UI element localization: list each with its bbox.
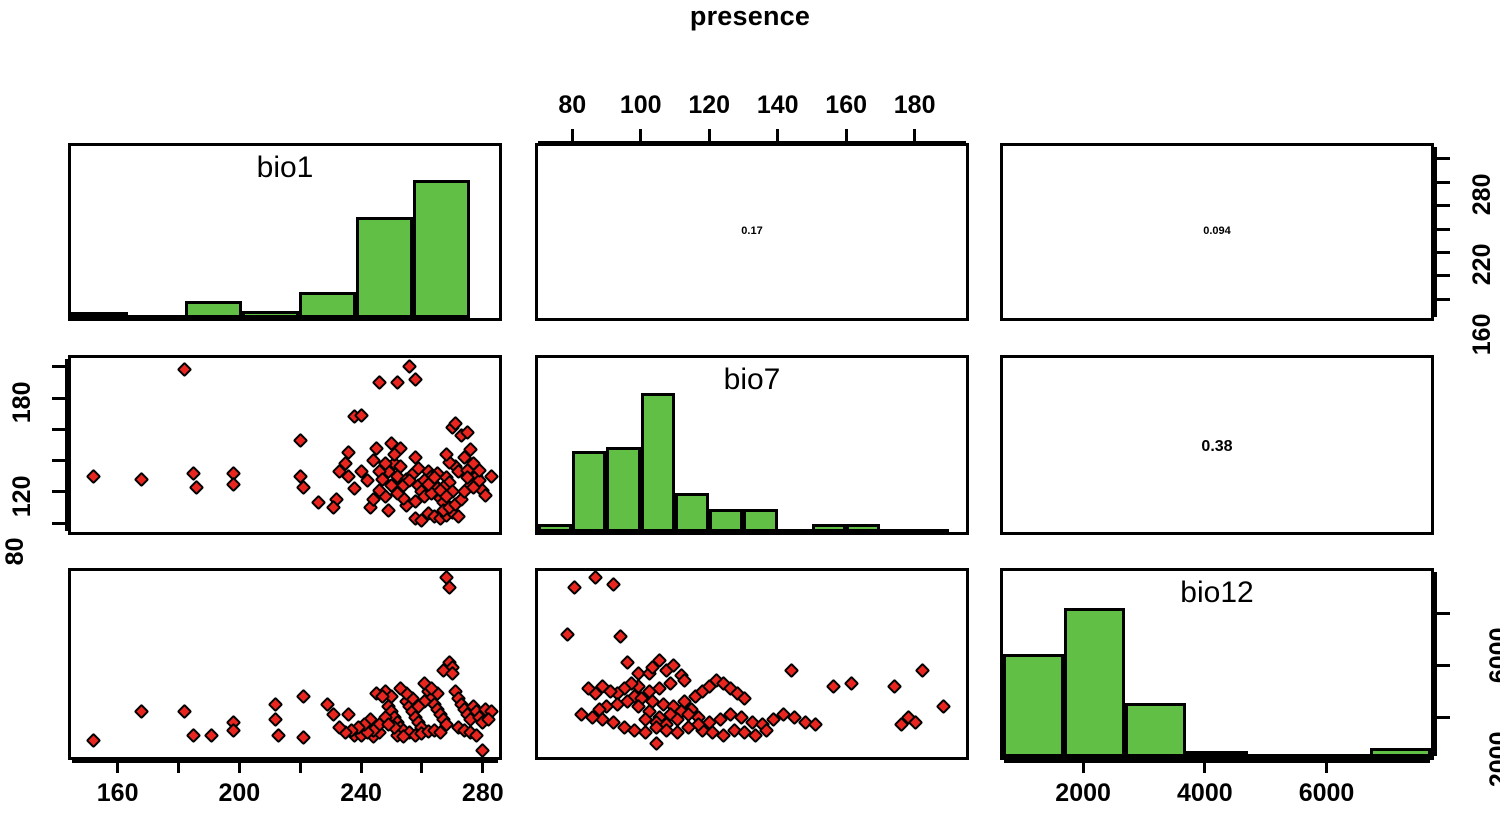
axis-tick <box>52 397 65 400</box>
axis-tick <box>420 760 423 773</box>
data-point <box>225 722 242 739</box>
axis-tick-label: 220 <box>1468 244 1497 286</box>
data-point <box>188 479 205 496</box>
data-point <box>573 706 590 723</box>
data-point <box>176 703 193 720</box>
correlation-value-r2c3: 0.38 <box>1000 438 1434 456</box>
axis-tick-label: 120 <box>8 475 37 517</box>
axis-tick <box>52 459 65 462</box>
axis-tick <box>177 760 180 773</box>
data-point <box>325 499 342 516</box>
histogram-bar <box>606 447 640 532</box>
data-point <box>432 724 449 741</box>
axis-tick <box>52 428 65 431</box>
axis-tick <box>845 129 848 143</box>
histogram-bar <box>1064 608 1125 757</box>
histogram-bar <box>538 524 572 532</box>
axis-tick <box>708 129 711 143</box>
data-point <box>605 576 622 593</box>
data-point <box>176 361 193 378</box>
data-point <box>566 579 583 596</box>
data-point <box>612 628 629 645</box>
data-point <box>559 626 576 643</box>
data-point <box>483 468 500 485</box>
axis-tick-label: 6000 <box>1299 779 1355 808</box>
axis-tick <box>1203 760 1206 773</box>
data-point <box>295 729 312 746</box>
data-point <box>331 719 348 736</box>
chart-title: presence <box>0 1 1500 32</box>
axis-tick <box>52 522 65 525</box>
correlation-value-r1c3: 0.094 <box>1000 225 1434 237</box>
data-point <box>353 407 370 424</box>
data-point <box>267 696 284 713</box>
data-point <box>389 374 406 391</box>
axis-tick <box>52 365 65 368</box>
axis-tick <box>1437 181 1450 184</box>
axis-tick <box>913 129 916 143</box>
data-point <box>690 716 707 733</box>
axis-tick <box>116 760 119 773</box>
data-point <box>374 688 391 705</box>
data-point <box>648 735 665 752</box>
data-point <box>893 716 910 733</box>
axis-line-bottom-left <box>72 760 498 763</box>
data-point <box>401 358 418 375</box>
data-point <box>270 727 287 744</box>
panel-label-bio12: bio12 <box>1000 576 1434 610</box>
data-point <box>474 742 491 759</box>
axis-line-right-top <box>1434 147 1437 317</box>
axis-tick <box>360 760 363 773</box>
histogram-bar <box>1125 703 1186 757</box>
axis-tick-label: 240 <box>340 779 382 808</box>
data-point <box>843 675 860 692</box>
histogram-bar <box>1186 751 1247 757</box>
data-point <box>825 678 842 695</box>
axis-tick <box>299 760 302 773</box>
axis-tick <box>1437 204 1450 207</box>
histogram-bar <box>641 393 675 532</box>
axis-tick <box>1082 760 1085 773</box>
axis-line-bottom-right <box>1004 760 1430 763</box>
data-point <box>292 432 309 449</box>
data-point <box>468 727 485 744</box>
data-point <box>783 662 800 679</box>
data-point <box>935 698 952 715</box>
data-point <box>85 468 102 485</box>
histogram-bar <box>1370 748 1431 757</box>
axis-tick <box>481 760 484 773</box>
axis-line-top <box>538 141 966 144</box>
axis-tick <box>1437 716 1450 719</box>
histogram-bar <box>778 529 812 535</box>
data-point <box>587 569 604 586</box>
data-point <box>736 690 753 707</box>
axis-tick-label: 160 <box>825 91 867 120</box>
data-point <box>444 665 461 682</box>
histogram-bar <box>743 509 777 532</box>
data-point <box>133 471 150 488</box>
histogram-bar <box>128 315 185 321</box>
data-point <box>441 579 458 596</box>
histogram-bar <box>356 217 413 318</box>
histogram-bar <box>242 311 299 318</box>
data-point <box>85 732 102 749</box>
data-point <box>133 703 150 720</box>
axis-tick <box>571 129 574 143</box>
histogram-bar <box>675 493 709 532</box>
axis-tick-label: 160 <box>1468 314 1497 356</box>
axis-tick-label: 4000 <box>1177 779 1233 808</box>
data-point <box>413 512 430 529</box>
data-point <box>456 483 473 500</box>
data-point <box>886 678 903 695</box>
axis-tick-label: 180 <box>8 381 37 423</box>
correlation-value-r1c2: 0.17 <box>535 225 969 237</box>
data-point <box>225 476 242 493</box>
histogram-bar <box>709 509 743 532</box>
histogram-bar <box>915 529 949 535</box>
data-point <box>580 680 597 697</box>
data-point <box>331 463 348 480</box>
data-point <box>353 463 370 480</box>
histogram-bar <box>299 292 356 318</box>
data-point <box>267 711 284 728</box>
panel-label-bio7: bio7 <box>535 363 969 397</box>
axis-tick-label: 100 <box>620 91 662 120</box>
axis-tick <box>1437 612 1450 615</box>
axis-tick-label: 6000 <box>1485 628 1500 684</box>
data-point <box>346 480 363 497</box>
data-point <box>389 485 406 502</box>
histogram-bar <box>880 529 914 535</box>
axis-tick-label: 180 <box>894 91 936 120</box>
axis-tick-label: 2000 <box>1485 732 1500 788</box>
axis-tick-label: 200 <box>218 779 260 808</box>
data-point <box>914 662 931 679</box>
axis-tick <box>1437 157 1450 160</box>
data-point <box>203 727 220 744</box>
axis-tick-label: 80 <box>558 91 586 120</box>
data-point <box>807 716 824 733</box>
histogram-bar <box>71 312 128 318</box>
data-point <box>371 374 388 391</box>
histogram-bar <box>185 301 242 318</box>
data-point <box>185 727 202 744</box>
axis-tick-label: 280 <box>462 779 504 808</box>
axis-tick <box>776 129 779 143</box>
data-point <box>368 440 385 457</box>
axis-tick <box>238 760 241 773</box>
axis-tick-label: 80 <box>1 538 30 566</box>
data-point <box>295 688 312 705</box>
axis-tick <box>1437 274 1450 277</box>
axis-tick-label: 280 <box>1468 173 1497 215</box>
axis-tick-label: 2000 <box>1055 779 1111 808</box>
histogram-bar <box>846 524 880 532</box>
data-point <box>459 424 476 441</box>
axis-tick <box>1437 251 1450 254</box>
histogram-bar <box>1003 654 1064 757</box>
axis-tick <box>1437 298 1450 301</box>
axis-tick <box>52 490 65 493</box>
histogram-bar <box>812 524 846 532</box>
axis-tick <box>1325 760 1328 773</box>
axis-line-left <box>65 359 68 531</box>
histogram-bar <box>572 451 606 532</box>
histogram-bar <box>413 180 470 318</box>
axis-tick <box>639 129 642 143</box>
data-point <box>438 446 455 463</box>
axis-tick-label: 160 <box>97 779 139 808</box>
axis-tick-label: 140 <box>757 91 799 120</box>
data-point <box>480 711 497 728</box>
axis-tick <box>1437 664 1450 667</box>
data-point <box>758 722 775 739</box>
axis-tick <box>1437 228 1450 231</box>
data-point <box>377 455 394 472</box>
axis-tick-label: 120 <box>688 91 730 120</box>
data-point <box>295 479 312 496</box>
data-point <box>380 716 397 733</box>
scatterplot-matrix: presence bio10.170.094bio70.38bio1280100… <box>0 0 1500 827</box>
